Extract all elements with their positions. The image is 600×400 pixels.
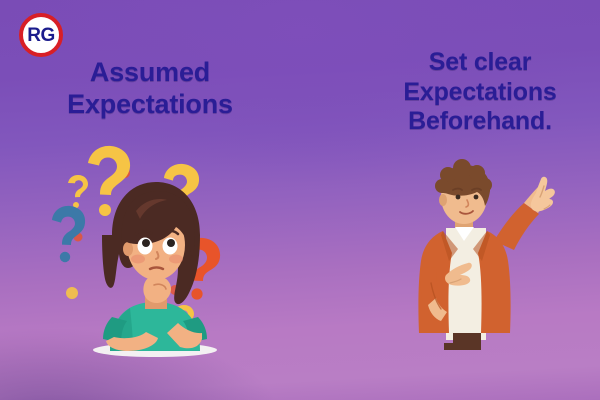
woman-ear: [123, 242, 133, 256]
rg-logo: RG: [19, 13, 63, 57]
man-hair-curl-5: [435, 179, 449, 193]
man-hair-curl-2: [453, 159, 471, 177]
right-heading-line-1: Set clear: [370, 48, 590, 78]
rg-logo-text: RG: [27, 26, 55, 45]
confused-woman-illustration: [50, 145, 270, 360]
man-shoe: [444, 343, 464, 350]
left-heading-line-1: Assumed: [30, 57, 270, 89]
decor-dot-yellow-1: [66, 287, 78, 299]
left-heading-line-2: Expectations: [30, 89, 270, 121]
man-ear: [439, 194, 447, 206]
right-heading-line-3: Beforehand.: [370, 107, 590, 137]
woman-pupil-left: [142, 239, 150, 247]
man-eye-right: [474, 195, 479, 200]
left-heading: Assumed Expectations: [30, 57, 270, 121]
woman-blush-left: [131, 255, 145, 264]
right-heading: Set clear Expectations Beforehand.: [370, 48, 590, 137]
poster-canvas: RG Assumed Expectations Set clear Expect…: [0, 0, 600, 400]
right-heading-line-2: Expectations: [370, 78, 590, 108]
man-eye-left: [456, 195, 461, 200]
pointing-man-illustration: [398, 155, 563, 350]
woman-pupil-right: [167, 239, 175, 247]
yellow-question-mark-left: [68, 175, 88, 208]
woman-blush-right: [169, 255, 183, 264]
